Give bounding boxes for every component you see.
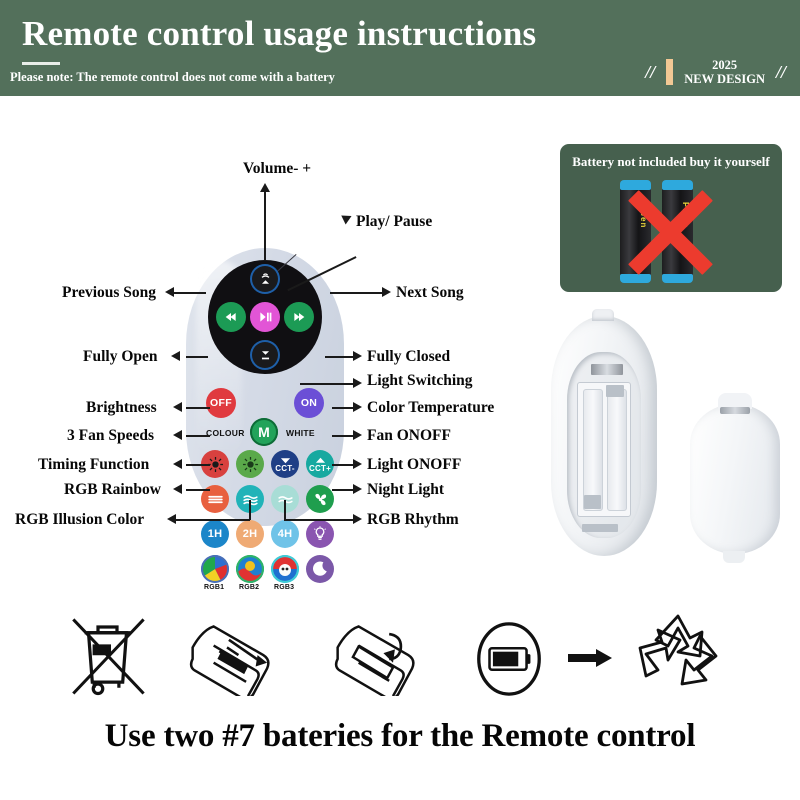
arrow-right-icon: [353, 430, 362, 440]
arrow-right-icon: [382, 287, 391, 297]
insert-battery-item: [330, 618, 435, 701]
timer-4h-button[interactable]: 4H: [271, 520, 299, 548]
volume-up-button[interactable]: [250, 264, 280, 294]
next-song-button[interactable]: [284, 302, 314, 332]
spring-contact-icon: [606, 385, 624, 397]
arrow-left-icon: [173, 484, 182, 494]
arrow-right-icon: [353, 484, 362, 494]
crossed-out-wheelie-bin-icon: [60, 608, 155, 703]
leader-line: [186, 464, 210, 466]
battery-notice-box: Battery not included buy it yourself Pis…: [560, 144, 782, 292]
callout-light-switching: Light Switching: [367, 372, 473, 390]
light-switching-m-button[interactable]: M: [250, 418, 278, 446]
callout-fully-open: Fully Open: [83, 348, 158, 366]
rgb-rhythm-button[interactable]: [271, 555, 299, 583]
timer-1h-button[interactable]: 1H: [201, 520, 229, 548]
callout-volume: Volume- +: [243, 160, 311, 178]
arrow-left-icon: [165, 287, 174, 297]
badge-subtitle: NEW DESIGN: [684, 72, 765, 86]
arrow-right-icon: [353, 514, 362, 524]
white-label: WHITE: [286, 428, 315, 438]
triangle-up-icon: [315, 457, 326, 464]
previous-track-icon: [223, 309, 239, 325]
arrow-right-icon: [353, 378, 362, 388]
callout-brightness: Brightness: [86, 399, 157, 417]
battery-cover: [690, 404, 780, 554]
light-onoff-button[interactable]: [306, 520, 334, 548]
page-header: Remote control usage instructions Please…: [0, 0, 800, 96]
leader-line: [186, 356, 208, 358]
battery-bay: [577, 382, 631, 517]
arrow-left-icon: [173, 459, 182, 469]
leader-line: [332, 489, 353, 491]
callout-rgb-illusion-color: RGB Illusion Color: [15, 511, 144, 529]
arrow-left-icon: [171, 351, 180, 361]
callout-color-temperature: Color Temperature: [367, 399, 494, 417]
arrow-icon: [341, 212, 353, 225]
play-pause-icon: [257, 309, 273, 325]
arrow-left-icon: [173, 402, 182, 412]
arrow-right-item: [568, 647, 614, 674]
battery-level-item: [470, 620, 548, 703]
battery-notice-title: Battery not included buy it yourself: [560, 154, 782, 170]
callout-next-song: Next Song: [396, 284, 464, 302]
page-title: Remote control usage instructions: [22, 14, 536, 54]
battery-negative-terminal: [620, 274, 651, 283]
arrow-left-icon: [173, 430, 182, 440]
open-battery-cover-icon: [185, 618, 290, 696]
battery-level-icon: [470, 620, 548, 698]
leader-line: [332, 435, 353, 437]
m-label: M: [258, 424, 270, 440]
callout-timing-function: Timing Function: [38, 456, 149, 474]
title-underline: [22, 62, 60, 65]
night-light-moon-icon: [311, 560, 329, 578]
volume-up-icon: [257, 271, 274, 288]
recycle-icon: [628, 610, 728, 702]
arrow-right-icon: [568, 647, 614, 669]
leader-line: [284, 519, 353, 521]
brightness-up-icon: [241, 455, 260, 474]
cct-plus-label: CCT+: [309, 464, 331, 474]
battery-slot: [607, 389, 627, 511]
rgb-illusion-color-button[interactable]: [236, 555, 264, 583]
lower-contact-icon: [582, 524, 618, 532]
leader-line: [186, 489, 210, 491]
badge-year: 2025: [684, 58, 765, 72]
arrow-right-icon: [353, 459, 362, 469]
callout-light-onoff: Light ONOFF: [367, 456, 461, 474]
leader-line: [332, 407, 353, 409]
light-bulb-icon: [311, 525, 329, 543]
rgb2-caption: RGB2: [239, 584, 259, 591]
leader-line: [249, 500, 251, 520]
arrow-up-icon: [260, 183, 270, 192]
insert-battery-icon: [330, 618, 435, 696]
header-note: Please note: The remote control does not…: [10, 70, 335, 85]
triangle-down-icon: [280, 457, 291, 464]
leader-line: [332, 464, 353, 466]
leader-line: [175, 519, 250, 521]
open-battery-cover-item: [185, 618, 290, 701]
rgb-rainbow-icon: [201, 555, 229, 583]
timer-1h-label: 1H: [208, 528, 222, 540]
remote-control-front: OFF ON COLOUR M WHITE: [186, 248, 344, 526]
play-pause-button[interactable]: [250, 302, 280, 332]
brightness-up-button[interactable]: [236, 450, 264, 478]
battery-negative-terminal: [662, 274, 693, 283]
timer-2h-button[interactable]: 2H: [236, 520, 264, 548]
previous-song-button[interactable]: [216, 302, 246, 332]
callout-rgb-rainbow: RGB Rainbow: [64, 481, 161, 499]
volume-down-button[interactable]: [250, 340, 280, 370]
leader-line: [173, 292, 187, 294]
badge-accent-bar: [666, 59, 673, 85]
crossed-out-bin-item: [60, 608, 155, 708]
timer-4h-label: 4H: [278, 528, 292, 540]
callout-rgb-rhythm: RGB Rhythm: [367, 511, 459, 529]
leader-line: [186, 435, 210, 437]
callout-play-pause: Play/ Pause: [356, 213, 432, 231]
rgb-rhythm-icon: [271, 555, 299, 583]
slash-left-icon: //: [645, 62, 655, 83]
arrow-left-icon: [167, 514, 176, 524]
off-label: OFF: [210, 397, 232, 409]
leader-line: [284, 500, 286, 520]
battery-compartment-well: [567, 352, 641, 538]
color-temperature-up-button[interactable]: CCT+: [306, 450, 334, 478]
remote-back-shell: [551, 316, 657, 556]
leader-line: [325, 356, 353, 358]
fan-speed-high-icon: [206, 490, 225, 509]
timer-2h-label: 2H: [243, 528, 257, 540]
rgb1-caption: RGB1: [204, 584, 224, 591]
badge-text: 2025 NEW DESIGN: [684, 58, 765, 87]
cover-clip-icon: [720, 407, 750, 414]
colour-label: COLOUR: [206, 428, 245, 438]
next-track-icon: [291, 309, 307, 325]
callout-fully-closed: Fully Closed: [367, 348, 450, 366]
leader-line: [264, 191, 266, 261]
fan-onoff-button[interactable]: [306, 485, 334, 513]
rgb-rainbow-button[interactable]: [201, 555, 229, 583]
fan-icon: [311, 490, 330, 509]
new-design-badge: // 2025 NEW DESIGN //: [645, 58, 786, 87]
on-label: ON: [301, 397, 317, 409]
dpad-cluster: [208, 260, 322, 374]
volume-down-icon: [257, 347, 274, 364]
slash-right-icon: //: [776, 62, 786, 83]
arrow-right-icon: [353, 351, 362, 361]
recycle-item: [628, 610, 728, 707]
arrow-right-icon: [353, 402, 362, 412]
footer-caption: Use two #7 bateries for the Remote contr…: [0, 718, 800, 755]
callout-previous-song: Previous Song: [62, 284, 156, 302]
rgb-illusion-icon: [236, 555, 264, 583]
leader-line: [186, 407, 210, 409]
battery-slot: [583, 389, 603, 511]
color-temperature-down-button[interactable]: CCT-: [271, 450, 299, 478]
callout-night-light: Night Light: [367, 481, 444, 499]
fully-closed-on-button[interactable]: ON: [294, 388, 324, 418]
leader-line: [300, 383, 353, 385]
cover-foot: [723, 551, 745, 563]
rgb3-caption: RGB3: [274, 584, 294, 591]
contact-strip-icon: [591, 364, 623, 375]
battery-positive-terminal: [662, 180, 693, 190]
disposal-instructions-strip: [0, 604, 800, 709]
leader-line: [186, 292, 206, 294]
callout-fan-onoff: Fan ONOFF: [367, 427, 451, 445]
callout-fan-speeds: 3 Fan Speeds: [67, 427, 154, 445]
fully-open-off-button[interactable]: OFF: [206, 388, 236, 418]
spring-contact-icon: [584, 495, 601, 509]
cct-minus-label: CCT-: [275, 464, 294, 474]
battery-positive-terminal: [620, 180, 651, 190]
night-light-button[interactable]: [306, 555, 334, 583]
leader-line: [330, 292, 382, 294]
shell-latch-nub: [592, 309, 614, 321]
